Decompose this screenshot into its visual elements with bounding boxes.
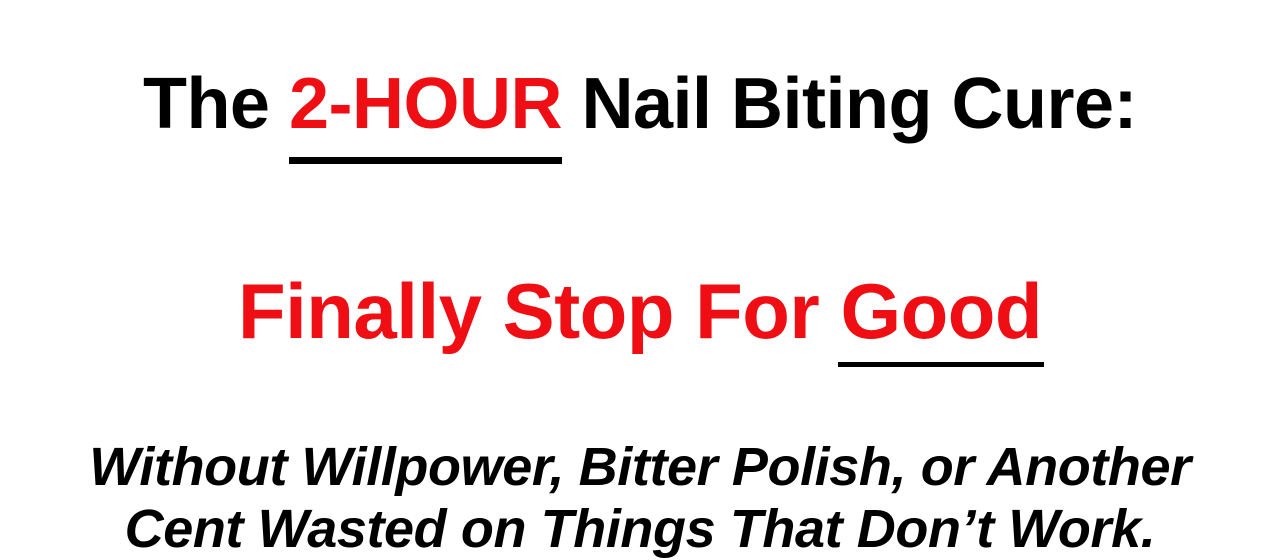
page-subtitle: Finally Stop For Good bbox=[0, 267, 1280, 355]
subhead-prefix-text: Finally Stop For bbox=[238, 267, 841, 355]
page-title: The 2-HOUR Nail Biting Cure: bbox=[0, 62, 1280, 146]
subhead-emphasis-good: Good bbox=[840, 267, 1042, 355]
tagline-line-2: Cent Wasted on Things That Don’t Work. bbox=[0, 498, 1280, 560]
sales-page-headline-block: The 2-HOUR Nail Biting Cure: Finally Sto… bbox=[0, 0, 1280, 536]
tagline-line-1: Without Willpower, Bitter Polish, or Ano… bbox=[0, 436, 1280, 498]
headline-emphasis-2-hour: 2-HOUR bbox=[289, 62, 562, 146]
tagline: Without Willpower, Bitter Polish, or Ano… bbox=[0, 436, 1280, 560]
headline-suffix-text: Nail Biting Cure: bbox=[562, 64, 1137, 144]
headline-prefix-text: The bbox=[143, 64, 289, 144]
